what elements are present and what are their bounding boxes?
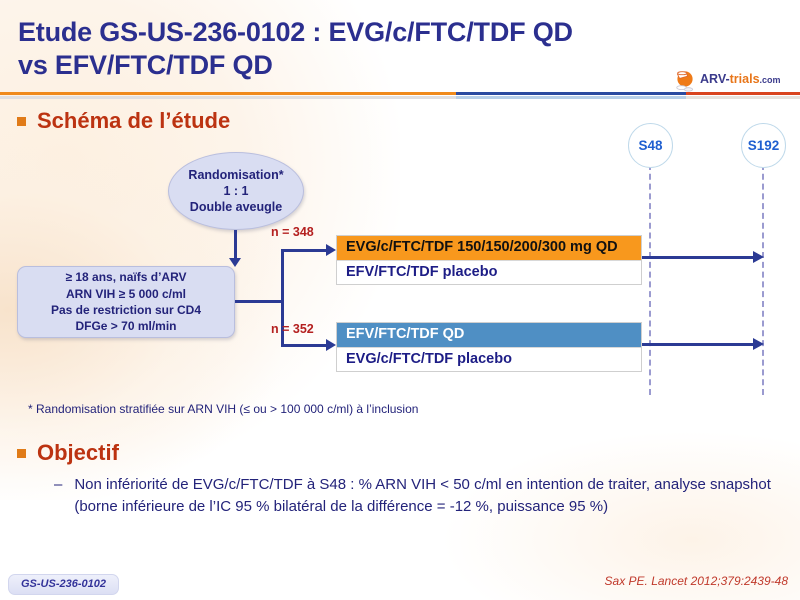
slide-canvas: Etude GS-US-236-0102 : EVG/c/FTC/TDF QD … <box>0 0 800 600</box>
footer-study-id-badge: GS-US-236-0102 <box>8 574 119 595</box>
randomisation-line-1: Randomisation* <box>188 167 283 183</box>
square-bullet-icon <box>17 449 26 458</box>
inclusion-line-3: Pas de restriction sur CD4 <box>51 302 201 318</box>
slide-title: Etude GS-US-236-0102 : EVG/c/FTC/TDF QD … <box>18 16 678 82</box>
slide-title-line-2: vs EFV/FTC/TDF QD <box>18 49 678 82</box>
inclusion-line-1: ≥ 18 ans, naïfs d’ARV <box>65 269 186 285</box>
pill-capsule-icon <box>674 70 700 92</box>
divider-segment-blue <box>456 92 686 95</box>
n-label-arm-b: n = 352 <box>271 322 314 336</box>
header-divider-bar <box>0 92 800 95</box>
branch-arrowhead-arm-b <box>326 339 336 351</box>
arv-trials-logo: ARV-trials.com <box>674 70 792 94</box>
arm-b-treatment-row: EFV/FTC/TDF QD <box>337 323 641 347</box>
logo-text-com: .com <box>760 75 781 85</box>
split-stem-line <box>235 300 283 303</box>
divider-segment-red <box>686 92 800 95</box>
timeline-dashed-line-s192 <box>762 164 764 395</box>
branch-arrowhead-arm-a <box>326 244 336 256</box>
inclusion-criteria-box: ≥ 18 ans, naïfs d’ARV ARN VIH ≥ 5 000 c/… <box>17 266 235 338</box>
header-divider-shadow <box>0 96 800 99</box>
arm-a-treatment-row: EVG/c/FTC/TDF 150/150/200/300 mg QD <box>337 236 641 260</box>
branch-line-arm-a <box>281 249 328 252</box>
footer-citation: Sax PE. Lancet 2012;379:2439-48 <box>605 574 788 588</box>
section-heading-schema-label: Schéma de l’étude <box>37 108 230 134</box>
randomisation-down-arrowhead <box>229 258 241 267</box>
inclusion-line-4: DFGe > 70 ml/min <box>75 318 176 334</box>
divider-segment-orange <box>0 92 456 95</box>
randomisation-node: Randomisation* 1 : 1 Double aveugle <box>168 152 304 230</box>
timepoint-node-s48: S48 <box>628 123 673 168</box>
section-heading-objectif: Objectif <box>17 440 119 466</box>
objectif-body: – Non infériorité de EVG/c/FTC/TDF à S48… <box>54 474 774 518</box>
objectif-body-text: Non infériorité de EVG/c/FTC/TDF à S48 :… <box>74 474 774 518</box>
square-bullet-icon <box>17 117 26 126</box>
section-heading-schema: Schéma de l’étude <box>17 108 230 134</box>
arm-b-placebo-row: EVG/c/FTC/TDF placebo <box>337 348 641 372</box>
randomisation-line-3: Double aveugle <box>190 199 282 215</box>
inclusion-line-2: ARN VIH ≥ 5 000 c/ml <box>66 286 186 302</box>
treatment-arm-a: EVG/c/FTC/TDF 150/150/200/300 mg QD EFV/… <box>336 235 642 285</box>
followup-arrow-arm-b <box>642 343 755 346</box>
divider-shadow-mid <box>456 96 686 99</box>
treatment-arm-b: EFV/FTC/TDF QD EVG/c/FTC/TDF placebo <box>336 322 642 372</box>
logo-text-trials: trials <box>730 72 760 86</box>
randomisation-line-2: 1 : 1 <box>223 183 248 199</box>
randomisation-down-line <box>234 230 237 260</box>
study-design-diagram: Randomisation* 1 : 1 Double aveugle ≥ 18… <box>0 140 800 395</box>
followup-arrowhead-arm-b <box>753 338 764 350</box>
section-heading-objectif-label: Objectif <box>37 440 119 466</box>
logo-wordmark: ARV-trials.com <box>700 72 781 86</box>
objectif-dash-bullet: – <box>54 474 62 518</box>
followup-arrowhead-arm-a <box>753 251 764 263</box>
divider-shadow-right <box>686 96 800 99</box>
slide-title-line-1: Etude GS-US-236-0102 : EVG/c/FTC/TDF QD <box>18 16 678 49</box>
followup-arrow-arm-a <box>642 256 755 259</box>
branch-line-arm-b <box>281 344 328 347</box>
timeline-dashed-line-s48 <box>649 164 651 395</box>
n-label-arm-a: n = 348 <box>271 225 314 239</box>
logo-text-arv: ARV- <box>700 72 730 86</box>
timepoint-node-s192: S192 <box>741 123 786 168</box>
divider-shadow-left <box>0 96 456 99</box>
arm-a-placebo-row: EFV/FTC/TDF placebo <box>337 261 641 285</box>
randomisation-footnote: * Randomisation stratifiée sur ARN VIH (… <box>28 402 418 416</box>
